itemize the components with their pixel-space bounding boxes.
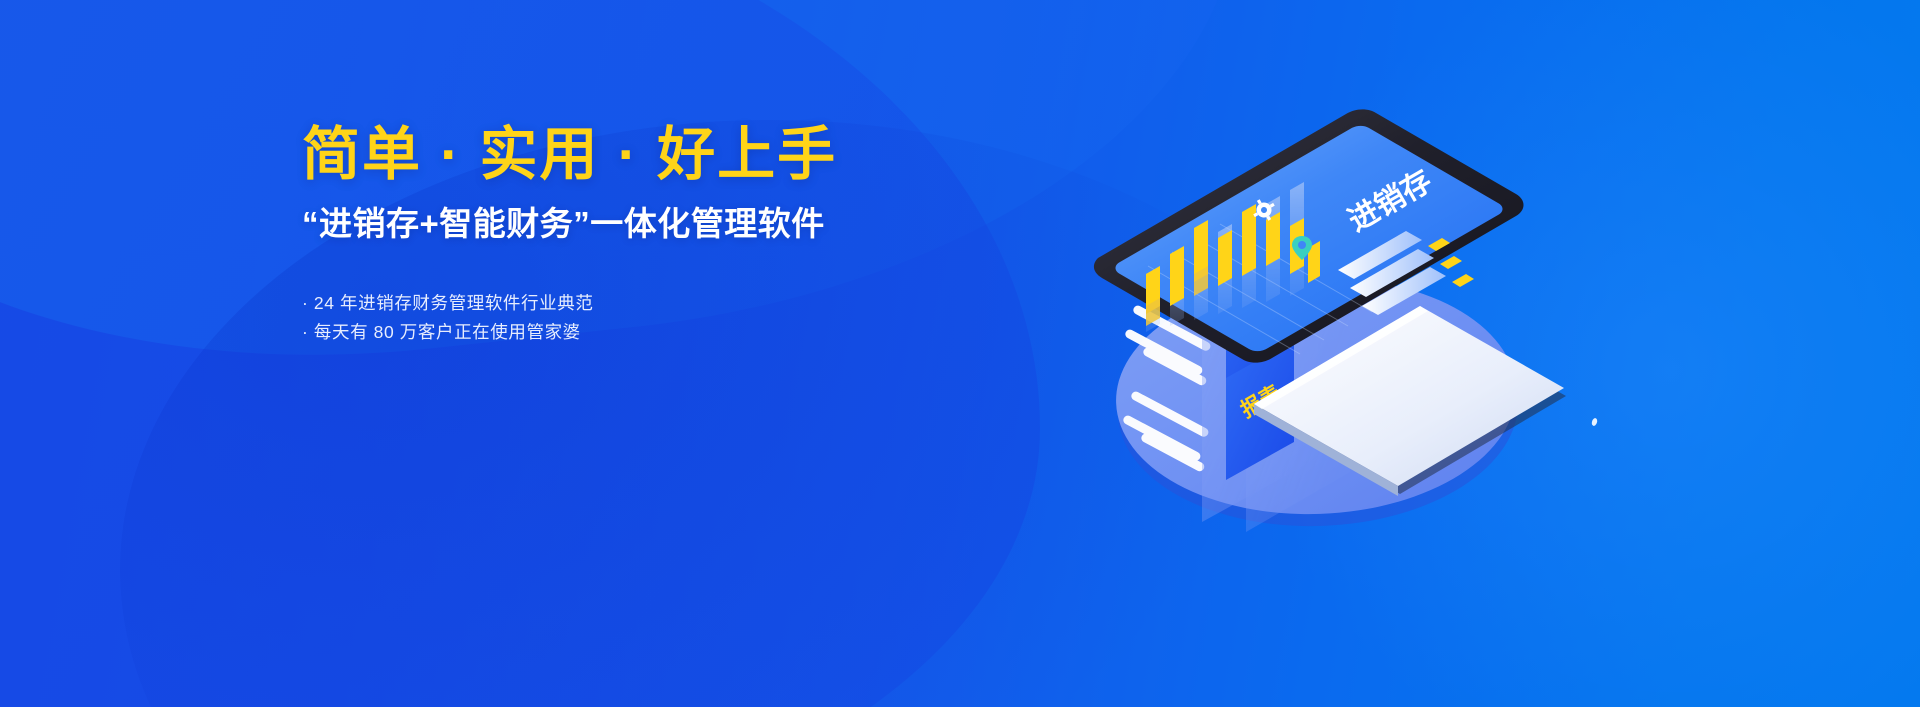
hero-copy: 简单 · 实用 · 好上手 “进销存+智能财务”一体化管理软件 · 24 年进销… <box>302 124 922 346</box>
background-swoosh-mid <box>0 0 1040 707</box>
page-subtitle: “进销存+智能财务”一体化管理软件 <box>302 197 922 245</box>
list-item: · 每天有 80 万客户正在使用管家婆 <box>302 318 922 346</box>
laptop-illustration: 财务 报表 <box>1050 60 1610 620</box>
list-item: · 24 年进销存财务管理软件行业典范 <box>302 289 922 317</box>
page-title: 简单 · 实用 · 好上手 <box>302 124 922 185</box>
hero-banner: 简单 · 实用 · 好上手 “进销存+智能财务”一体化管理软件 · 24 年进销… <box>0 0 1920 707</box>
feature-bullet-list: · 24 年进销存财务管理软件行业典范 · 每天有 80 万客户正在使用管家婆 <box>302 289 922 346</box>
